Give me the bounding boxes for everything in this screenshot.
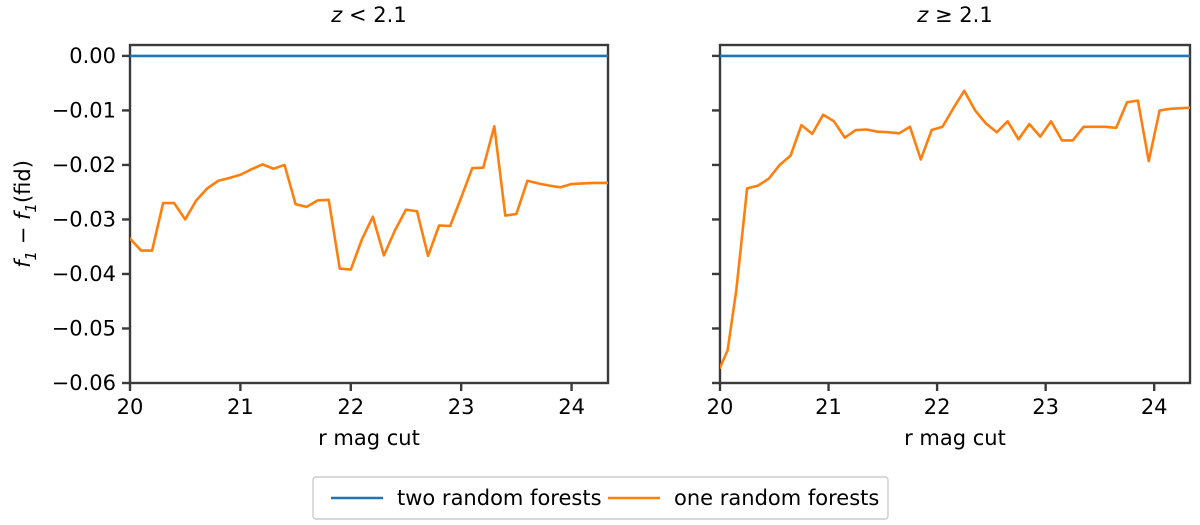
y-tick-label: −0.02: [52, 153, 116, 177]
legend-label-1: one random forests: [674, 486, 879, 510]
x-tick-label: 23: [1032, 395, 1059, 419]
ylabel-sub-2: 1: [22, 203, 40, 213]
panel-title-relation: ≥: [928, 3, 959, 27]
series-line-one-random-forests: [720, 91, 1190, 368]
y-tick-label: −0.01: [52, 98, 116, 122]
x-tick-label: 24: [558, 395, 585, 419]
y-tick-label: −0.06: [52, 371, 116, 395]
axes-left: z < 2.10.00−0.01−0.02−0.03−0.04−0.05−0.0…: [52, 3, 608, 450]
panel-title-value: 2.1: [373, 3, 406, 27]
x-tick-label: 22: [924, 395, 951, 419]
panel-title-relation: <: [342, 3, 373, 27]
x-tick-label: 24: [1141, 395, 1168, 419]
panel-title-right: z ≥ 2.1: [916, 3, 992, 27]
matplotlib-figure: z < 2.10.00−0.01−0.02−0.03−0.04−0.05−0.0…: [0, 0, 1200, 525]
legend-label-0: two random forests: [397, 486, 602, 510]
x-tick-label: 21: [227, 395, 254, 419]
panel-title-left: z < 2.1: [330, 3, 406, 27]
figure-container: z < 2.10.00−0.01−0.02−0.03−0.04−0.05−0.0…: [0, 0, 1200, 525]
x-tick-label: 20: [707, 395, 734, 419]
x-tick-label: 21: [815, 395, 842, 419]
y-tick-label: 0.00: [69, 44, 116, 68]
x-axis-label-left: r mag cut: [318, 426, 420, 450]
ylabel-sub-1: 1: [22, 251, 40, 261]
y-tick-label: −0.04: [52, 262, 116, 286]
data-layer-left: [130, 56, 608, 270]
panel-title-value: 2.1: [959, 3, 992, 27]
legend: two random forestsone random forests: [313, 477, 888, 519]
x-tick-label: 20: [117, 395, 144, 419]
y-tick-label: −0.05: [52, 316, 116, 340]
x-axis-label-right: r mag cut: [904, 426, 1006, 450]
ylabel-minus: −: [11, 220, 35, 251]
ylabel-fid: (fid): [11, 160, 35, 203]
data-layer-right: [720, 56, 1190, 368]
x-tick-label: 23: [448, 395, 475, 419]
x-tick-label: 22: [337, 395, 364, 419]
y-tick-label: −0.03: [52, 207, 116, 231]
plot-frame-right: [720, 45, 1190, 383]
axes-right: z ≥ 2.12021222324r mag cut: [707, 3, 1190, 450]
y-axis-label: f1 − f1(fid): [11, 160, 40, 268]
series-line-one-random-forests: [130, 126, 608, 269]
plot-frame-left: [130, 45, 608, 383]
